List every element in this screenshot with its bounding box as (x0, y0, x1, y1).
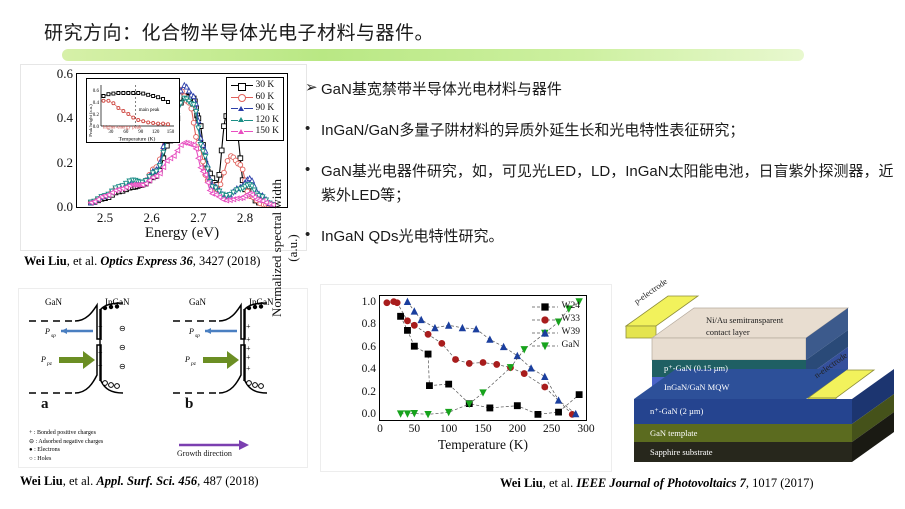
axis-tick-label: 0.8 (362, 318, 376, 330)
axis-tick-label: 150 (474, 423, 491, 435)
pl-caption-journal: Optics Express 36 (100, 254, 192, 268)
pl-caption-rest: , 3427 (2018) (193, 254, 261, 268)
bullet-text: GaN基光电器件研究，如，可见光LED，LD，InGaN太阳能电池，日盲紫外探测… (321, 160, 895, 208)
device-layer-sapphire: Sapphire substrate (650, 447, 713, 457)
band-caption-author: Wei Liu (20, 474, 63, 488)
axis-tick-label: 0.6 (57, 66, 73, 82)
svg-text:sp: sp (51, 333, 56, 339)
band-caption-journal: Appl. Surf. Sci. 456 (96, 474, 197, 488)
svg-text:P: P (188, 327, 194, 336)
axis-tick-label: 0.6 (362, 341, 376, 353)
legend-label: W39 (562, 326, 580, 339)
svg-text:+: + (246, 335, 251, 344)
device-caption-etal: , et al. (543, 476, 577, 490)
bullet-text: GaN基宽禁带半导体光电材料与器件 (321, 78, 562, 102)
sw-legend-item: W39 (532, 326, 580, 339)
bullet-item: ➢GaN基宽禁带半导体光电材料与器件 (305, 78, 895, 102)
legend-marker (532, 328, 558, 338)
spectral-width-figure: Normalized spectral width (a.u.) Tempera… (320, 284, 612, 472)
legend-marker (231, 116, 253, 125)
legend-label: 150 K (256, 126, 280, 138)
svg-text:main peak: main peak (139, 108, 160, 113)
svg-text:⊖: ⊖ (119, 362, 126, 371)
sw-legend-item: W24 (532, 300, 580, 313)
pl-x-axis-label: Energy (eV) (76, 225, 288, 242)
pl-legend-item: 90 K (231, 103, 280, 115)
device-layer-contact: Ni/Au semitransparent contact layer (706, 314, 806, 338)
device-caption-author: Wei Liu (500, 476, 543, 490)
legend-marker (532, 341, 558, 351)
legend-marker (231, 127, 253, 136)
bullet-item: •InGaN/GaN多量子阱材料的异质外延生长和光电特性表征研究； (305, 119, 895, 143)
band-diagram-key: + : Bonded positive charges⊖ : Adsorbed … (29, 429, 103, 463)
svg-text:sp: sp (195, 333, 200, 339)
legend-label: 120 K (256, 115, 280, 127)
pl-caption-author: Wei Liu (24, 254, 67, 268)
device-layer-mqw: InGaN/GaN MQW (664, 382, 729, 392)
axis-tick-label: 250 (543, 423, 560, 435)
svg-text:60: 60 (123, 130, 129, 135)
axis-tick-label: 0.4 (57, 110, 73, 126)
device-caption-rest: , 1017 (2017) (746, 476, 814, 490)
device-caption: Wei Liu, et al. IEEE Journal of Photovol… (500, 476, 814, 491)
band-key-item: ○ : Holes (29, 455, 103, 464)
svg-text:pz: pz (46, 361, 53, 367)
growth-direction-label: Growth direction (177, 449, 232, 458)
band-diagram-figure: ++++ ⊖⊖⊖ P sp P pz +++++ (18, 288, 308, 468)
device-structure-figure: p-electrode n-electrode Ni/Au semitransp… (612, 282, 900, 464)
bullet-marker: • (305, 225, 321, 245)
device-caption-journal: IEEE Journal of Photovoltaics 7 (576, 476, 745, 490)
axis-tick-label: 100 (440, 423, 457, 435)
bullet-marker: • (305, 160, 321, 180)
svg-text:+: + (98, 322, 103, 331)
bullet-item: •GaN基光电器件研究，如，可见光LED，LD，InGaN太阳能电池，日盲紫外探… (305, 160, 895, 208)
svg-text:⊖: ⊖ (119, 343, 126, 352)
bullet-text: InGaN QDs光电特性研究。 (321, 225, 504, 249)
svg-text:⊖: ⊖ (119, 324, 126, 333)
svg-text:+: + (246, 364, 251, 373)
svg-text:P: P (184, 355, 190, 364)
svg-text:0.6: 0.6 (93, 89, 100, 94)
pl-legend-item: 150 K (231, 126, 280, 138)
bullet-list: ➢GaN基宽禁带半导体光电材料与器件•InGaN/GaN多量子阱材料的异质外延生… (305, 78, 895, 266)
axis-tick-label: 0.4 (362, 363, 376, 375)
svg-text:P: P (40, 355, 46, 364)
axis-tick-label: 50 (409, 423, 421, 435)
page-title: 研究方向：化合物半导体光电子材料与器件。 (44, 18, 434, 45)
svg-text:0.0: 0.0 (93, 125, 100, 130)
legend-marker (231, 93, 253, 102)
svg-text:+: + (98, 348, 103, 357)
bullet-item: •InGaN QDs光电特性研究。 (305, 225, 895, 249)
svg-text:higher-energy peak: higher-energy peak (103, 125, 142, 130)
band-panel-b-label: b (185, 396, 193, 413)
band-caption-etal: , et al. (63, 474, 97, 488)
device-layer-ngan: n⁺-GaN (2 µm) (650, 406, 703, 417)
axis-tick-label: 0.0 (57, 199, 73, 215)
pl-legend-item: 120 K (231, 115, 280, 127)
svg-text:Temperature (K): Temperature (K) (119, 136, 156, 143)
svg-text:+: + (246, 322, 251, 331)
legend-label: 30 K (256, 80, 275, 92)
legend-label: 60 K (256, 92, 275, 104)
axis-tick-label: 0 (377, 423, 383, 435)
axis-tick-label: 300 (577, 423, 594, 435)
legend-label: GaN (562, 339, 580, 352)
pl-legend-item: 30 K (231, 80, 280, 92)
svg-text:+: + (246, 344, 251, 353)
svg-text:90: 90 (138, 130, 144, 135)
svg-text:+: + (98, 361, 103, 370)
svg-text:pz: pz (190, 361, 197, 367)
pl-caption: Wei Liu, et al. Optics Express 36, 3427 … (24, 254, 260, 269)
axis-tick-label: 0.2 (57, 155, 73, 171)
band-b-left-material: GaN (189, 297, 206, 307)
legend-marker (231, 104, 253, 113)
legend-marker (231, 81, 253, 90)
sw-y-axis-label: Normalized spectral width (a.u.) (269, 173, 301, 323)
axis-tick-label: 2.8 (237, 210, 253, 226)
pl-legend: 30 K60 K90 K120 K150 K (226, 77, 285, 141)
device-layer-template: GaN template (650, 428, 697, 438)
pl-inset-svg: 0.00.20.40.6306090120150Temperature (K)P… (87, 79, 179, 142)
band-key-item: ⊖ : Adsorbed negative charges (29, 438, 103, 447)
band-a-left-material: GaN (45, 297, 62, 307)
bullet-marker: • (305, 119, 321, 139)
sw-legend-item: GaN (532, 339, 580, 352)
pl-inset-plot: 0.00.20.40.6306090120150Temperature (K)P… (86, 78, 180, 143)
pl-spectra-figure: Intensity (a.u.) Energy (eV) 0.00.20.40.… (20, 64, 307, 251)
pl-plot-area: 0.00.20.40.6306090120150Temperature (K)P… (76, 73, 288, 208)
legend-label: W24 (562, 300, 580, 313)
svg-text:P: P (44, 327, 50, 336)
sw-x-axis-label: Temperature (K) (379, 437, 587, 453)
axis-tick-label: 2.6 (144, 210, 160, 226)
pl-caption-etal: , et al. (67, 254, 101, 268)
axis-tick-label: 0.0 (362, 408, 376, 420)
legend-marker (532, 302, 558, 312)
svg-text:+: + (246, 353, 251, 362)
axis-tick-label: 2.7 (190, 210, 206, 226)
svg-text:Peak height (a.u.): Peak height (a.u.) (88, 104, 93, 137)
sw-plot-area: W24W33W39GaN 0.00.20.40.60.81.0050100150… (379, 295, 587, 421)
axis-tick-label: 2.5 (97, 210, 113, 226)
band-a-right-material: InGaN (105, 297, 130, 307)
sw-legend-item: W33 (532, 313, 580, 326)
band-panel-a-label: a (41, 396, 49, 413)
axis-tick-label: 200 (509, 423, 526, 435)
axis-tick-label: 0.2 (362, 386, 376, 398)
band-caption-rest: , 487 (2018) (197, 474, 258, 488)
svg-text:0.4: 0.4 (93, 101, 100, 106)
bullet-text: InGaN/GaN多量子阱材料的异质外延生长和光电特性表征研究； (321, 119, 744, 143)
band-key-item: ● : Electrons (29, 446, 103, 455)
legend-marker (532, 315, 558, 325)
band-key-item: + : Bonded positive charges (29, 429, 103, 438)
svg-text:+: + (98, 335, 103, 344)
axis-tick-label: 1.0 (362, 296, 376, 308)
legend-label: 90 K (256, 103, 275, 115)
svg-text:150: 150 (167, 130, 175, 135)
device-layer-pgan: p⁺-GaN (0.15 µm) (664, 363, 728, 374)
bullet-marker: ➢ (305, 78, 321, 98)
sw-legend: W24W33W39GaN (532, 300, 580, 352)
band-caption: Wei Liu, et al. Appl. Surf. Sci. 456, 48… (20, 474, 259, 489)
svg-text:120: 120 (152, 130, 160, 135)
svg-text:30: 30 (108, 130, 114, 135)
title-accent-bar (62, 49, 804, 61)
svg-text:0.2: 0.2 (93, 113, 100, 118)
pl-legend-item: 60 K (231, 92, 280, 104)
legend-label: W33 (562, 313, 580, 326)
